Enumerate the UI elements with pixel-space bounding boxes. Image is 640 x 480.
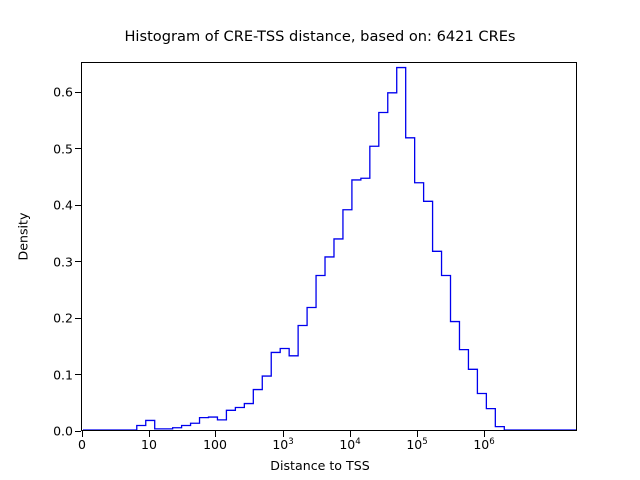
x-tick-label-1: 10 <box>141 437 157 452</box>
x-tick-mark-5 <box>417 431 418 437</box>
x-tick-mark-3 <box>283 431 284 437</box>
x-tick-mark-0 <box>82 431 83 437</box>
x-tick-mark-1 <box>149 431 150 437</box>
x-tick-mark-4 <box>350 431 351 437</box>
x-tick-label-3: 103 <box>272 437 293 452</box>
x-tick-label-5: 105 <box>406 437 427 452</box>
x-axis-label: Distance to TSS <box>0 458 640 473</box>
x-tick-mark-2 <box>215 431 216 437</box>
x-tick-label-0: 0 <box>78 437 86 452</box>
y-axis-label: Density <box>16 137 31 337</box>
x-tick-mark-6 <box>484 431 485 437</box>
x-tick-label-2: 100 <box>203 437 227 452</box>
x-tick-label-6: 106 <box>473 437 494 452</box>
x-tick-label-4: 104 <box>339 437 360 452</box>
figure-canvas: Histogram of CRE-TSS distance, based on:… <box>0 0 640 480</box>
x-axis-tick-labels: 010100103104105106 <box>0 0 640 480</box>
